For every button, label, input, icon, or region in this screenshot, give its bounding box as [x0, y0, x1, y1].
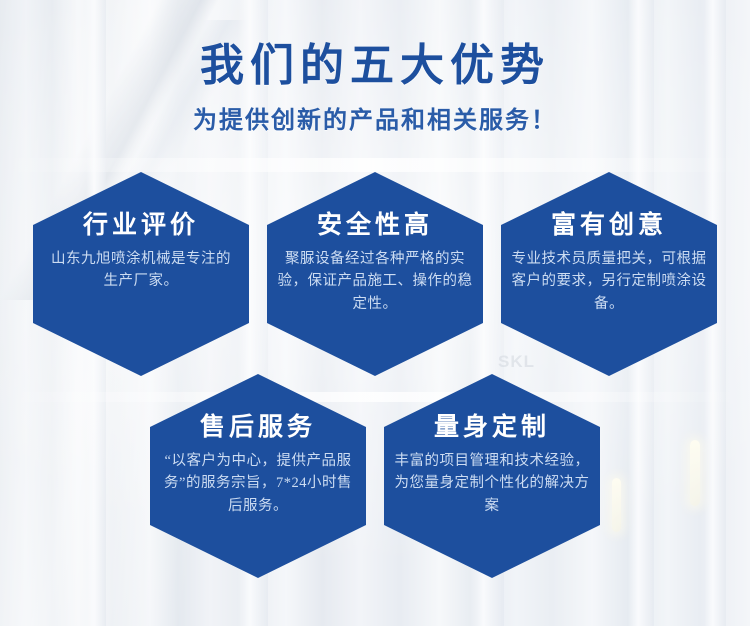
advantage-body: “以客户为中心，提供产品服务”的服务宗旨，7*24小时售后服务。: [160, 450, 356, 517]
advantages-banner: SKL 我们的五大优势 为提供创新的产品和相关服务！ 行业评价 山东九旭喷涂机械…: [0, 0, 750, 626]
advantage-title: 售后服务: [150, 412, 366, 442]
advantage-title: 行业评价: [33, 210, 249, 240]
advantage-title: 量身定制: [384, 412, 600, 442]
advantage-body: 丰富的项目管理和技术经验，为您量身定制个性化的解决方案: [394, 450, 590, 517]
advantage-body: 聚脲设备经过各种严格的实验，保证产品施工、操作的稳定性。: [277, 248, 473, 315]
advantage-title: 安全性高: [267, 210, 483, 240]
page-subtitle: 为提供创新的产品和相关服务！: [0, 100, 750, 135]
advantage-title: 富有创意: [501, 210, 717, 240]
advantage-body: 专业技术员质量把关，可根据客户的要求，另行定制喷涂设备。: [511, 248, 707, 315]
page-title: 我们的五大优势: [0, 42, 750, 90]
headline-block: 我们的五大优势 为提供创新的产品和相关服务！: [0, 42, 750, 135]
advantage-body: 山东九旭喷涂机械是专注的生产厂家。: [47, 248, 235, 293]
